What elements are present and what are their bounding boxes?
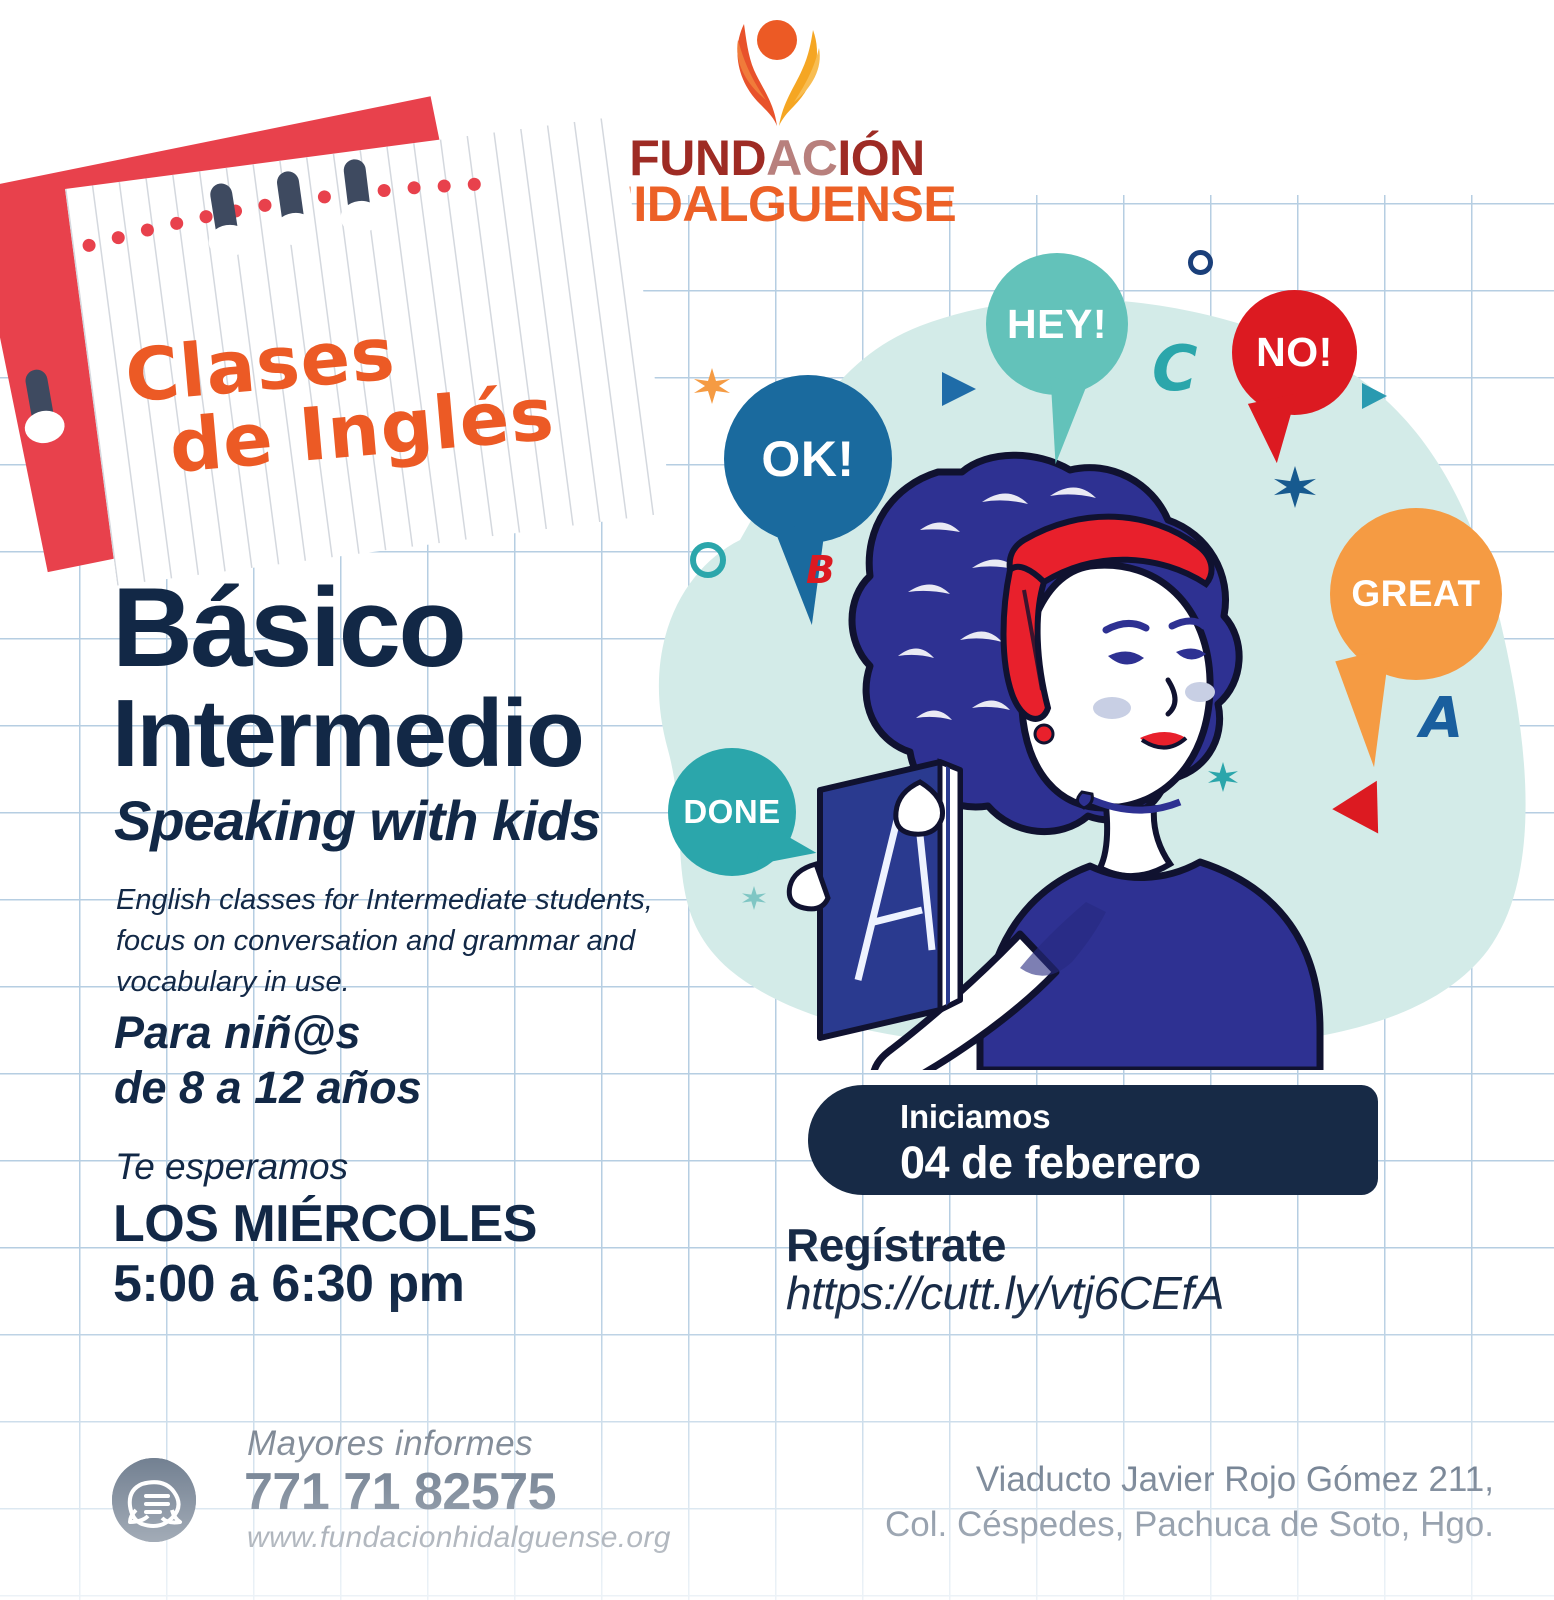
orange-star-icon	[694, 368, 730, 409]
spiral-ring	[271, 202, 316, 247]
speech-bubble-no-text: NO!	[1256, 329, 1333, 376]
spiral-ring	[21, 400, 67, 446]
teal-star-icon	[1208, 762, 1238, 797]
speech-bubble-done: DONE	[668, 748, 796, 876]
audience-line2: de 8 a 12 años	[114, 1061, 422, 1116]
audience-block: Para niñ@s de 8 a 12 años	[114, 1006, 422, 1116]
course-subtitle: Speaking with kids	[114, 788, 600, 853]
speech-bubble-no: NO!	[1232, 290, 1357, 415]
level-secondary-heading: Intermedio	[112, 688, 583, 779]
blue-triangle-icon	[942, 372, 976, 406]
contact-address: Viaducto Javier Rojo Gómez 211, Col. Cés…	[774, 1458, 1494, 1548]
teal-circle-outline-icon	[690, 542, 726, 578]
spiral-ring	[0, 413, 6, 460]
course-description: English classes for Intermediate student…	[116, 880, 706, 1004]
decor-letter-b: B	[806, 548, 835, 592]
speech-bubble-great: GREAT	[1330, 508, 1502, 680]
spiral-ring	[205, 214, 251, 260]
address-line-2: Col. Céspedes, Pachuca de Soto, Hgo.	[774, 1503, 1494, 1548]
start-date-banner: Iniciamos 04 de feberero	[808, 1085, 1378, 1195]
spiral-ring	[338, 191, 383, 236]
schedule-time: 5:00 a 6:30 pm	[113, 1254, 464, 1314]
speech-bubble-hey-text: HEY!	[1007, 301, 1107, 348]
navy-star-icon	[1274, 466, 1316, 513]
decor-letter-a: A	[1420, 686, 1463, 751]
registration-url-link[interactable]: https://cutt.ly/vtj6CEfA	[786, 1266, 1224, 1320]
decor-letter-c: C	[1152, 332, 1198, 405]
speech-bubble-hey: HEY!	[986, 253, 1128, 395]
navy-circle-outline-icon	[1188, 250, 1213, 275]
small-teal-star-icon	[742, 886, 766, 915]
flame-figure-icon	[682, 18, 872, 133]
speech-bubble-ok-text: OK!	[761, 430, 854, 488]
contact-website[interactable]: www.fundacionhidalguense.org	[247, 1521, 671, 1555]
start-date-label: Iniciamos	[900, 1098, 1378, 1136]
registration-label: Regístrate	[786, 1218, 1006, 1272]
audience-line1: Para niñ@s	[114, 1006, 422, 1061]
level-primary-heading: Básico	[112, 576, 464, 680]
schedule-intro: Te esperamos	[115, 1146, 348, 1188]
start-date-value: 04 de feberero	[900, 1137, 1378, 1189]
contact-info-label: Mayores informes	[247, 1424, 533, 1464]
contact-phone[interactable]: 771 71 82575	[244, 1462, 556, 1522]
poster-canvas: FUNDACIÓN HIDALGUENSE Clases de Inglés B…	[0, 0, 1554, 1600]
schedule-day: LOS MIÉRCOLES	[113, 1194, 537, 1254]
chat-bubble-icon	[112, 1458, 196, 1542]
speech-bubble-ok: OK!	[724, 375, 892, 543]
speech-bubble-great-text: GREAT	[1351, 573, 1480, 615]
teal-triangle-icon	[1362, 383, 1387, 409]
address-line-1: Viaducto Javier Rojo Gómez 211,	[774, 1458, 1494, 1503]
